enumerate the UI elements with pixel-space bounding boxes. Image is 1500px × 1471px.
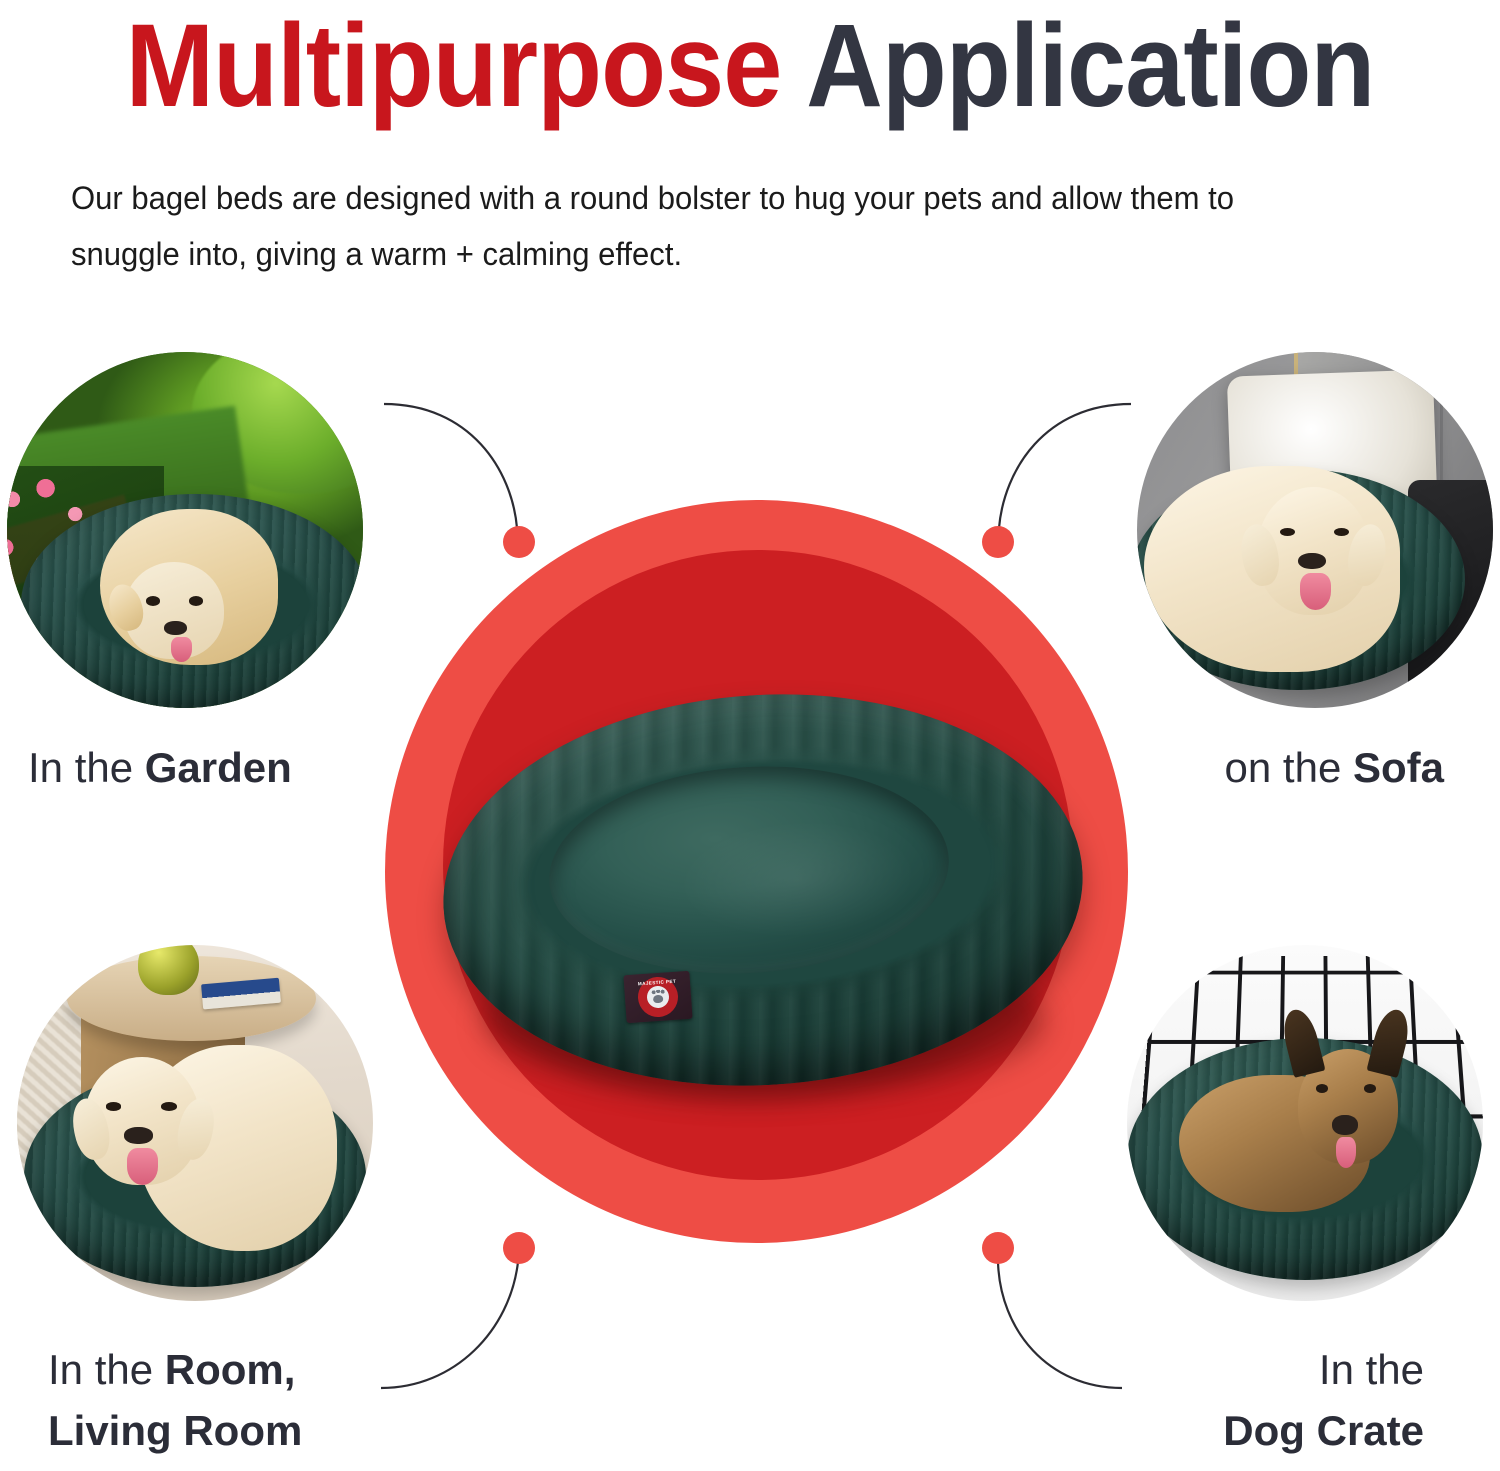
scene-garden xyxy=(7,352,363,708)
subtitle-line-2: snuggle into, giving a warm + calming ef… xyxy=(71,226,1429,282)
brand-badge: MAJESTIC PET xyxy=(637,976,680,1019)
dog-nose xyxy=(1298,553,1326,570)
vase xyxy=(138,945,199,995)
callout-label-sofa-bold: Sofa xyxy=(1353,744,1444,791)
connector-line-living-room xyxy=(381,1262,518,1388)
dog-eye-left xyxy=(146,596,160,605)
dog-nose xyxy=(1332,1115,1358,1135)
photo-dog-crate xyxy=(1127,945,1483,1301)
subtitle: Our bagel beds are designed with a round… xyxy=(50,170,1450,282)
callout-label-dog-crate-line1: In the xyxy=(1223,1340,1424,1401)
dog-tongue xyxy=(171,637,192,662)
dog-nose xyxy=(164,621,187,635)
callout-label-sofa-regular: on the xyxy=(1225,744,1353,791)
callout-label-living-room: In the Room, Living Room xyxy=(48,1340,302,1462)
dog-eye-left xyxy=(106,1102,122,1110)
paw-print-icon xyxy=(646,985,669,1008)
photo-sofa xyxy=(1137,352,1493,708)
callout-label-living-room-regular: In the xyxy=(48,1346,165,1393)
brand-tag: MAJESTIC PET xyxy=(623,971,692,1023)
callout-label-dog-crate-regular: In the xyxy=(1319,1346,1424,1393)
callout-label-garden-bold: Garden xyxy=(145,744,292,791)
scene-dog-crate xyxy=(1127,945,1483,1301)
callout-label-garden: In the Garden xyxy=(28,738,292,799)
scene-living-room xyxy=(17,945,373,1301)
dog-ear-left xyxy=(1279,1006,1326,1078)
callout-label-dog-crate: In the Dog Crate xyxy=(1223,1340,1424,1462)
dog-tongue xyxy=(127,1148,159,1185)
callout-label-garden-regular: In the xyxy=(28,744,145,791)
callout-label-living-room-line1: In the Room, xyxy=(48,1340,302,1401)
dog-eye-right xyxy=(161,1102,177,1110)
callout-label-living-room-bold1: Room, xyxy=(165,1346,296,1393)
page-title: Multipurpose Application xyxy=(75,0,1425,126)
dog-living-room xyxy=(74,1045,337,1251)
dog-nose xyxy=(124,1127,153,1144)
callout-label-dog-crate-line2: Dog Crate xyxy=(1223,1401,1424,1462)
callout-label-dog-crate-bold: Dog Crate xyxy=(1223,1407,1424,1454)
photo-living-room xyxy=(17,945,373,1301)
dog-eye-right xyxy=(1364,1084,1376,1093)
dog-garden xyxy=(100,509,278,666)
callout-label-living-room-line2: Living Room xyxy=(48,1401,302,1462)
dog-crate xyxy=(1227,1009,1426,1230)
subtitle-line-1: Our bagel beds are designed with a round… xyxy=(71,170,1429,226)
connector-line-dog-crate xyxy=(998,1262,1122,1388)
product-hero: MAJESTIC PET xyxy=(385,500,1128,1243)
callout-label-living-room-bold2: Living Room xyxy=(48,1407,302,1454)
photo-garden xyxy=(7,352,363,708)
product-bed: MAJESTIC PET xyxy=(443,695,1083,1115)
dog-eye-right xyxy=(189,596,203,605)
dog-sofa xyxy=(1144,466,1400,672)
callout-label-sofa: on the Sofa xyxy=(1225,738,1444,799)
scene-sofa xyxy=(1137,352,1493,708)
page-title-dark: Application xyxy=(806,0,1374,132)
dog-ear-right xyxy=(1367,1006,1414,1078)
header: Multipurpose Application xyxy=(0,0,1500,126)
page-title-red: Multipurpose xyxy=(126,0,782,132)
